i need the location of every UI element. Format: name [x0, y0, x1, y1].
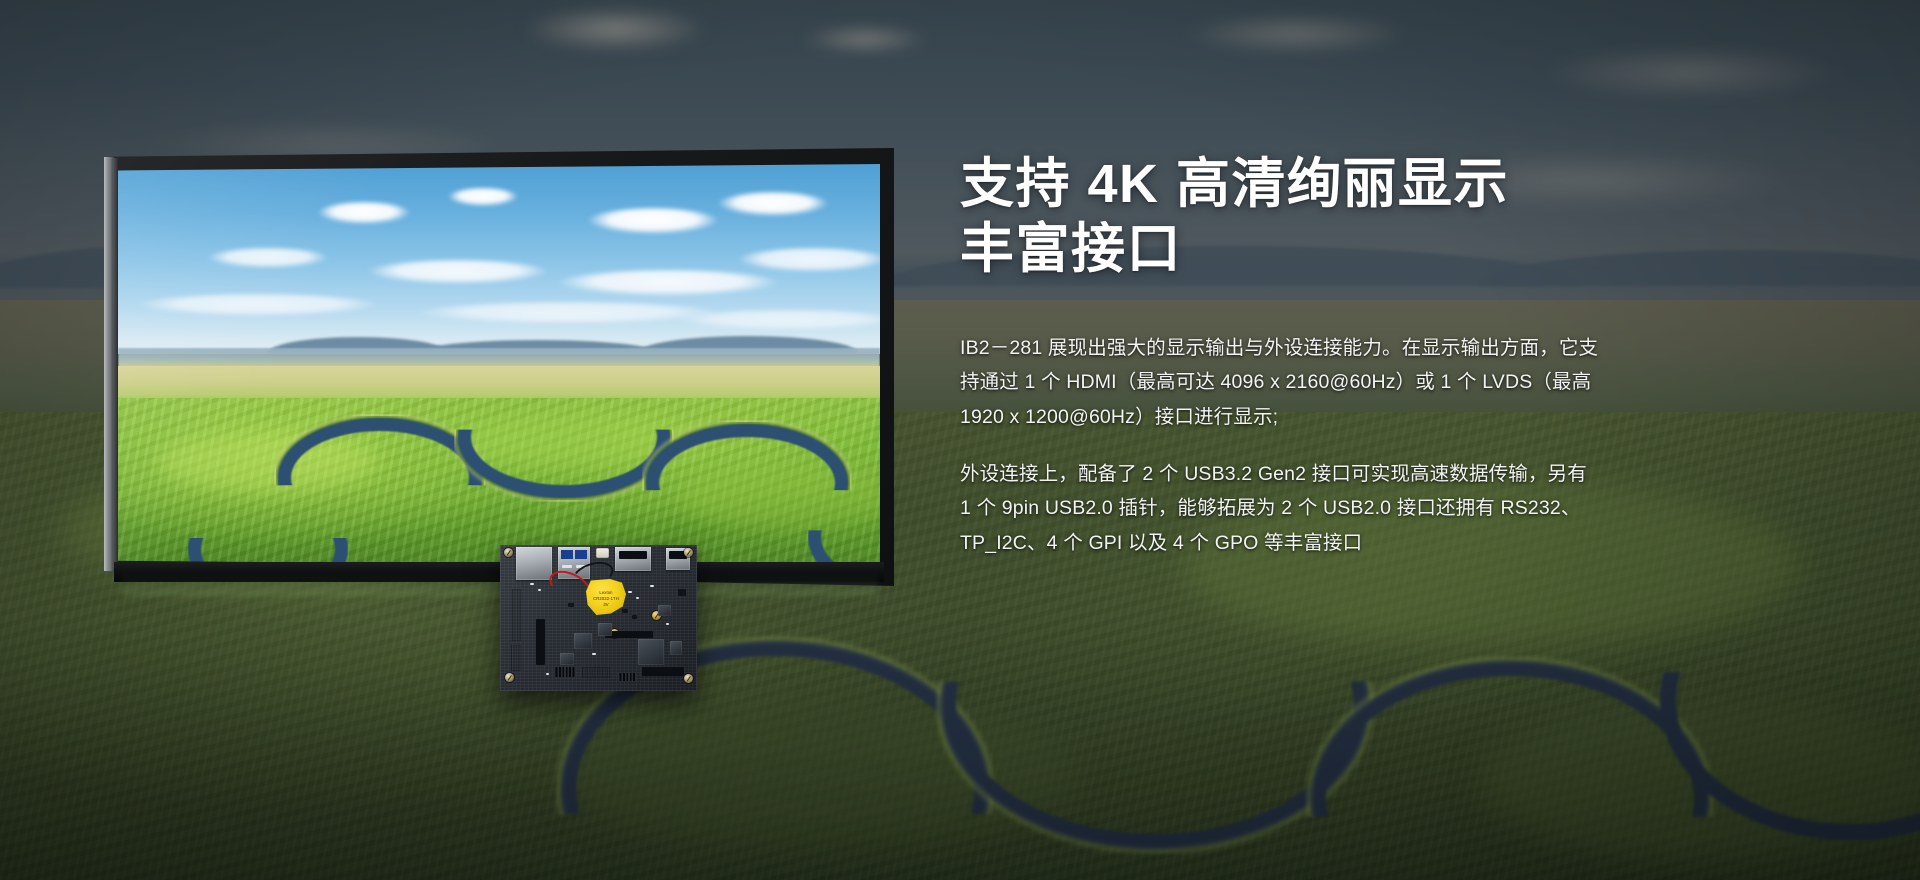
body-paragraph-display: IB2－281 展现出强大的显示输出与外设连接能力。在显示输出方面，它支持通过 … — [960, 331, 1600, 435]
soc-chip — [638, 639, 664, 665]
flash-chip — [658, 605, 671, 616]
screen-cloud — [738, 248, 880, 272]
smd-component — [628, 591, 632, 593]
tv-left-trim-inner — [113, 158, 118, 570]
gpio-pin-header — [554, 667, 576, 677]
screen-cloud — [588, 208, 718, 234]
smd-component — [538, 589, 541, 591]
smd-component — [636, 597, 639, 599]
battery-label-line1: Lexton — [586, 590, 626, 595]
capacitor — [568, 603, 574, 607]
mounting-screw-bottom-left — [505, 673, 514, 682]
screen-cloud — [418, 302, 718, 324]
smd-component — [592, 653, 596, 655]
banner-stage: Lexton CR2032-1TH 3V — [0, 0, 1920, 880]
usb20-9pin-header — [582, 667, 610, 678]
usb3-port-upper — [561, 550, 573, 559]
usb3-tongue-upper — [562, 565, 572, 568]
smd-component — [650, 585, 654, 587]
screen-cloud — [368, 260, 548, 284]
mounting-screw-top-right — [684, 548, 693, 557]
hdmi-cavity — [619, 551, 647, 559]
usb3-port-lower — [575, 550, 587, 559]
screen-cloud — [318, 202, 410, 224]
screen-far-plain — [118, 348, 880, 368]
screen-cloud — [448, 188, 518, 206]
battery-label-line3: 3V — [586, 602, 626, 607]
m2-slot — [605, 631, 653, 638]
mounting-screw-bottom-right — [684, 674, 693, 683]
mainboard: Lexton CR2032-1TH 3V — [500, 545, 697, 691]
screen-cloud — [718, 192, 828, 216]
smd-component — [530, 583, 534, 585]
smd-component — [666, 623, 669, 625]
micro-usb-connector — [596, 548, 609, 558]
tv-screen — [118, 164, 880, 568]
tv-display — [104, 148, 894, 586]
screen-dune — [118, 366, 880, 402]
sata-connector — [642, 667, 684, 676]
smd-component — [546, 673, 549, 675]
mounting-screw-top-left — [504, 548, 513, 557]
inductor — [678, 589, 686, 596]
pmic-chip — [670, 641, 682, 655]
lvds-connector — [512, 589, 521, 641]
screen-cloud — [138, 294, 378, 316]
memory-chip-2 — [598, 623, 612, 636]
controller-chip — [560, 653, 574, 665]
panel-connector — [511, 645, 521, 671]
copy-block: 支持 4K 高清绚丽显示 丰富接口 IB2－281 展现出强大的显示输出与外设连… — [960, 152, 1600, 561]
screen-cloud — [208, 248, 328, 268]
rj45-port-left — [516, 547, 552, 580]
expansion-slot — [536, 619, 545, 665]
screen-cloud — [558, 270, 778, 296]
page-title: 支持 4K 高清绚丽显示 丰富接口 — [960, 152, 1600, 283]
battery-label-line2: CR2032-1TH — [586, 596, 626, 601]
body-paragraph-peripherals: 外设连接上，配备了 2 个 USB3.2 Gen2 接口可实现高速数据传输，另有… — [960, 457, 1600, 561]
capacitor — [632, 615, 637, 619]
memory-chip-1 — [574, 633, 592, 649]
serial-pin-header — [618, 673, 636, 681]
capacitor — [622, 609, 628, 613]
